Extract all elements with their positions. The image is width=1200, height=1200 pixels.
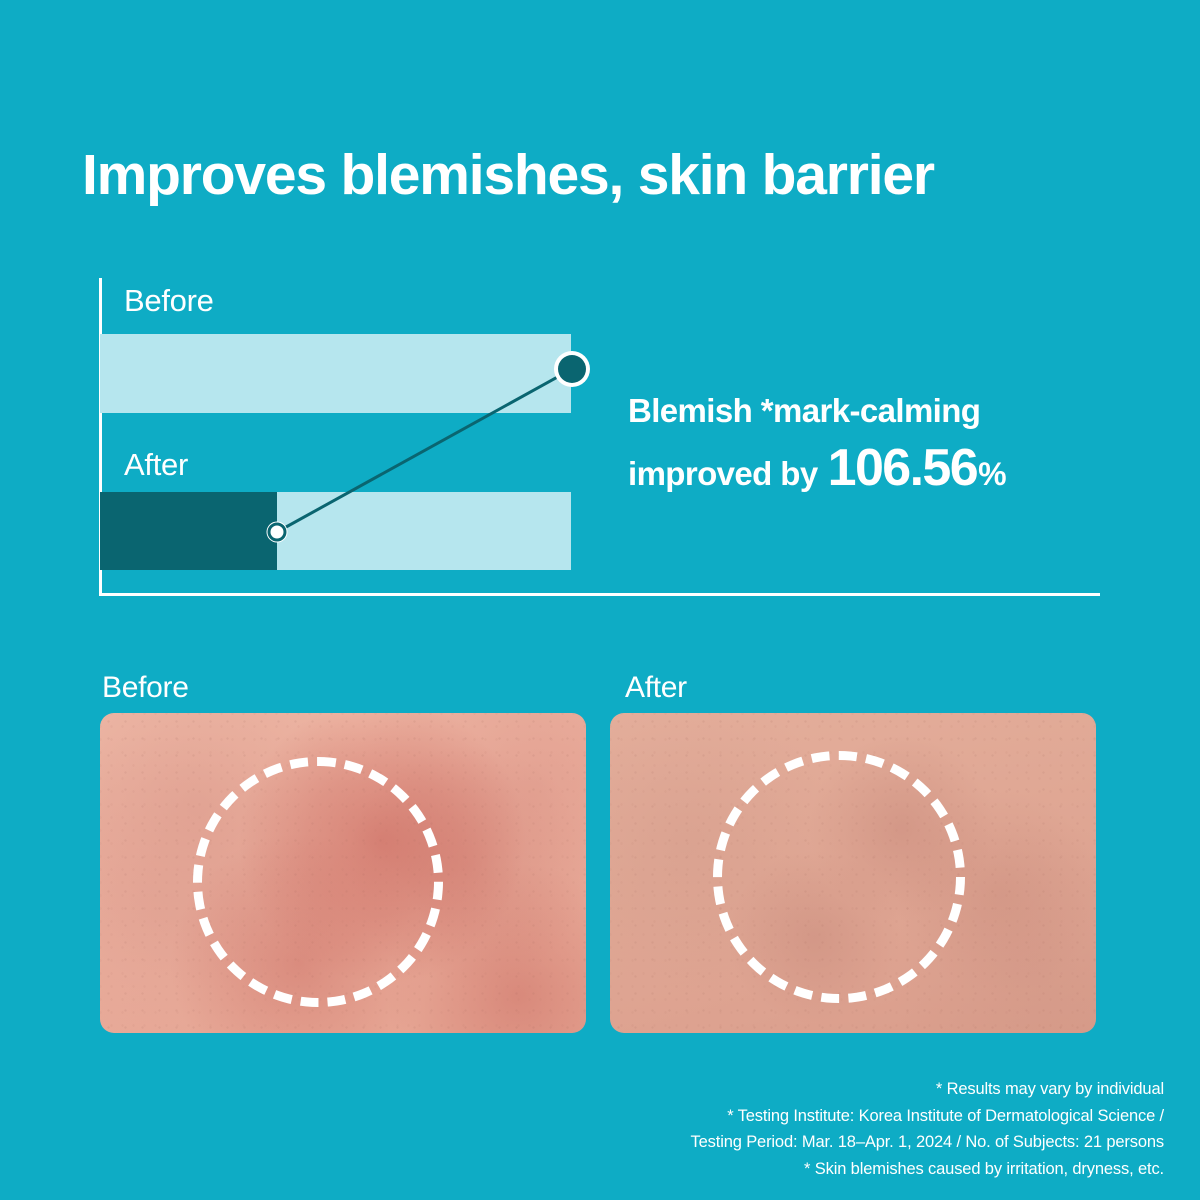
footnote-line: Testing Period: Mar. 18–Apr. 1, 2024 / N…	[264, 1129, 1164, 1156]
photo-after	[610, 713, 1096, 1033]
before-after-photos: Before After	[0, 0, 1200, 1200]
photo-label-after: After	[625, 671, 687, 705]
footnote-line: * Testing Institute: Korea Institute of …	[264, 1103, 1164, 1130]
highlight-circle-before	[193, 757, 443, 1007]
footnote-line: * Skin blemishes caused by irritation, d…	[264, 1156, 1164, 1183]
footnote-line: * Results may vary by individual	[264, 1076, 1164, 1103]
footnotes: * Results may vary by individual * Testi…	[264, 1076, 1164, 1183]
photo-before	[100, 713, 586, 1033]
highlight-circle-after	[713, 751, 965, 1003]
photo-label-before: Before	[102, 671, 189, 705]
